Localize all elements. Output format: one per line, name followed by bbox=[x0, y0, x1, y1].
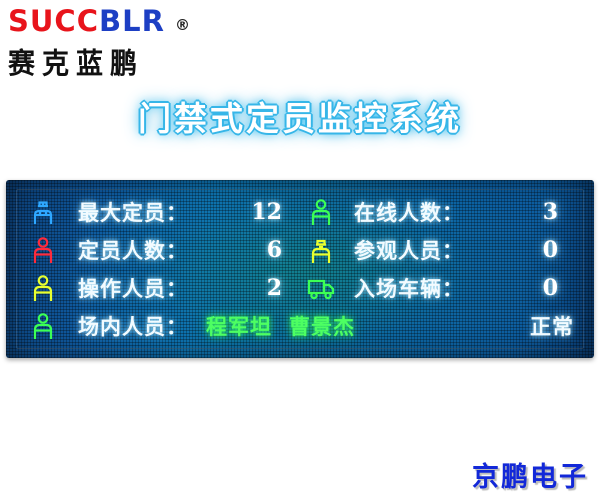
label-visitor-count: 参观人员： bbox=[354, 231, 464, 269]
value-visitor-count: 0 bbox=[482, 231, 558, 269]
value-operator-count: 2 bbox=[206, 269, 282, 307]
status-text: 正常 bbox=[530, 311, 574, 341]
page-title: 门禁式定员监控系统 bbox=[0, 92, 600, 140]
personnel-name: 程军坦 bbox=[206, 311, 272, 341]
person-icon bbox=[28, 231, 58, 269]
label-online-count: 在线人数： bbox=[354, 193, 464, 231]
led-row: 最大定员： 12 在线人数： 3 bbox=[6, 193, 594, 231]
label-vehicle-count: 入场车辆： bbox=[354, 269, 464, 307]
company-logo: SUCCBLR ® 赛克蓝鹏 bbox=[8, 6, 218, 72]
logo-latin-succ: SUCC bbox=[8, 4, 99, 38]
label-operator-count: 操作人员： bbox=[78, 269, 188, 307]
label-assigned-count: 定员人数： bbox=[78, 231, 188, 269]
led-row: 定员人数： 6 参观人员： 0 bbox=[6, 231, 594, 269]
label-max-capacity: 最大定员： bbox=[78, 193, 188, 231]
value-assigned-count: 6 bbox=[206, 231, 282, 269]
personnel-name: 曹景杰 bbox=[289, 311, 355, 341]
truck-icon bbox=[306, 269, 336, 307]
person-icon bbox=[28, 269, 58, 307]
person-icon bbox=[28, 307, 58, 345]
status-badge: 正常 bbox=[482, 307, 574, 345]
logo-latin-blr: BLR bbox=[99, 4, 165, 38]
person-hard-hat-icon bbox=[28, 193, 58, 231]
registered-trademark-icon: ® bbox=[175, 10, 191, 40]
person-icon bbox=[306, 193, 336, 231]
logo-chinese-wordmark: 赛克蓝鹏 bbox=[8, 40, 218, 81]
value-max-capacity: 12 bbox=[206, 193, 282, 231]
footer-company-name: 京鹏电子 bbox=[472, 455, 588, 494]
led-row: 场内人员： 程军坦 曹景杰 正常 bbox=[6, 307, 594, 345]
logo-latin-wordmark: SUCCBLR ® bbox=[8, 6, 218, 36]
label-onsite-personnel: 场内人员： bbox=[78, 307, 188, 345]
led-display-panel: 最大定员： 12 在线人数： 3 bbox=[6, 180, 594, 358]
onsite-personnel-names: 程军坦 曹景杰 bbox=[206, 307, 355, 345]
person-hard-hat-icon bbox=[306, 231, 336, 269]
led-row: 操作人员： 2 入场车辆： 0 bbox=[6, 269, 594, 307]
value-online-count: 3 bbox=[482, 193, 558, 231]
value-vehicle-count: 0 bbox=[482, 269, 558, 307]
